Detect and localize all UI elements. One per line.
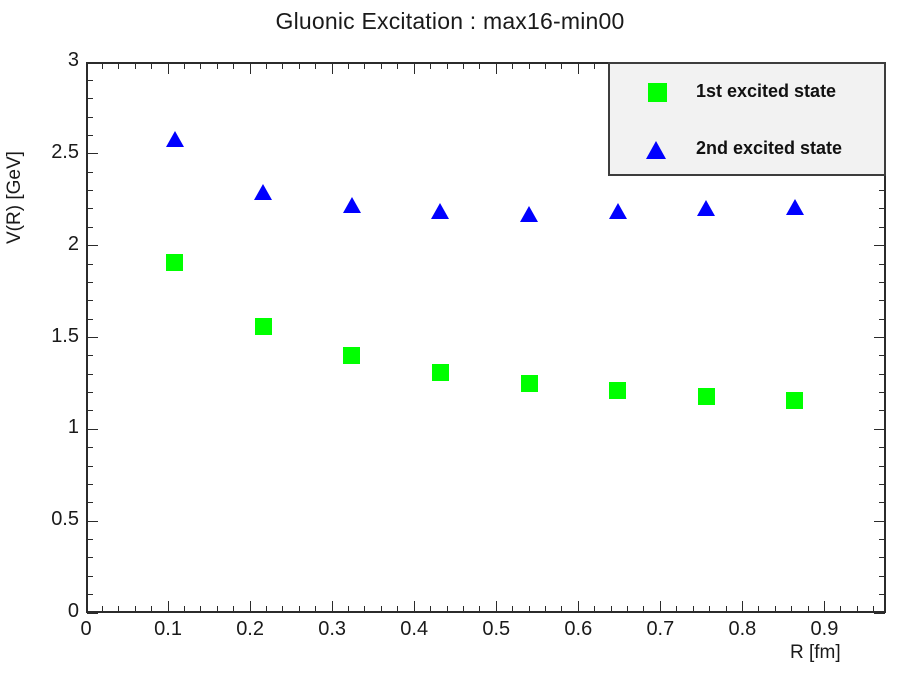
x-tick-label: 0.5	[456, 618, 536, 641]
chart-legend: 1st excited state 2nd excited state	[608, 62, 886, 176]
y-tick-label: 1	[19, 416, 79, 439]
data-point-marker	[609, 203, 627, 219]
legend-label-2: 2nd excited state	[696, 138, 842, 159]
y-tick-label: 2.5	[19, 141, 79, 164]
data-point-marker	[697, 200, 715, 216]
data-point-marker	[432, 364, 449, 381]
data-point-marker	[166, 131, 184, 147]
data-point-marker	[521, 375, 538, 392]
legend-entry-1: 1st excited state	[610, 64, 884, 121]
x-axis-title: R [fm]	[790, 642, 841, 664]
data-point-marker	[254, 184, 272, 200]
x-tick-label: 0.3	[292, 618, 372, 641]
chart-title: Gluonic Excitation : max16-min00	[0, 8, 900, 35]
data-point-marker	[698, 388, 715, 405]
x-tick-label: 0.4	[374, 618, 454, 641]
y-tick-label: 0.5	[19, 508, 79, 531]
y-tick-label: 2	[19, 233, 79, 256]
x-tick-label: 0.2	[210, 618, 290, 641]
x-tick-label: 0.8	[702, 618, 782, 641]
chart-canvas: Gluonic Excitation : max16-min00 V(R) [G…	[0, 0, 900, 675]
data-point-marker	[786, 199, 804, 215]
data-point-marker	[520, 206, 538, 222]
data-point-marker	[255, 318, 272, 335]
data-point-marker	[343, 197, 361, 213]
square-marker-icon	[640, 64, 680, 121]
triangle-marker-icon	[640, 121, 680, 178]
data-point-marker	[166, 254, 183, 271]
x-tick-label: 0.7	[620, 618, 700, 641]
x-tick-label: 0.1	[128, 618, 208, 641]
data-point-marker	[786, 392, 803, 409]
y-tick-label: 0	[19, 600, 79, 623]
y-tick-label: 3	[19, 49, 79, 72]
y-tick-label: 1.5	[19, 325, 79, 348]
data-point-marker	[343, 347, 360, 364]
legend-entry-2: 2nd excited state	[610, 121, 884, 178]
x-tick-label: 0.6	[538, 618, 618, 641]
x-tick-label: 0.9	[784, 618, 864, 641]
legend-label-1: 1st excited state	[696, 81, 836, 102]
data-point-marker	[431, 203, 449, 219]
data-point-marker	[609, 382, 626, 399]
